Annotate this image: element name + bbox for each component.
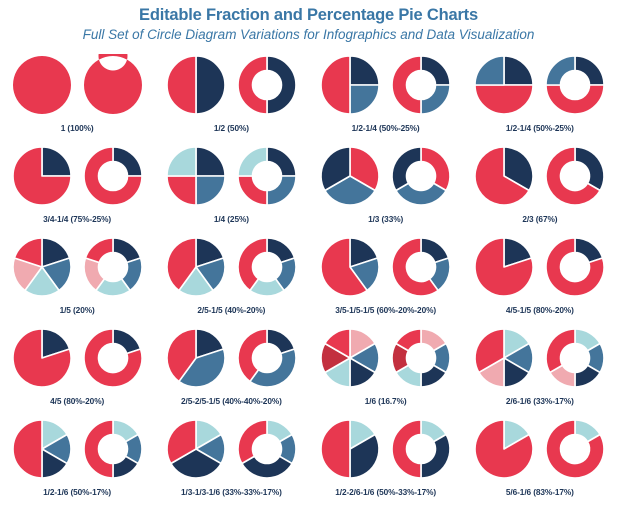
- chart-caption: 1 (100%): [61, 123, 94, 133]
- pie-slice: [321, 420, 350, 478]
- chart-cell: 3/4-1/4 (75%-25%): [0, 141, 154, 232]
- chart-caption: 4/5 (80%-20%): [50, 396, 104, 406]
- chart-pair: [473, 141, 606, 211]
- chart-caption: 3/4-1/4 (75%-25%): [43, 214, 111, 224]
- pie-chart: [473, 145, 535, 207]
- pie-slice: [475, 56, 504, 85]
- chart-cell: 1/6 (16.7%): [309, 323, 463, 414]
- pie-slice: [196, 176, 225, 205]
- chart-cell: 1/2-1/6 (50%-17%): [0, 414, 154, 505]
- pie-chart: [11, 145, 73, 207]
- pie-chart: [165, 145, 227, 207]
- pie-slice: [321, 56, 350, 114]
- chart-cell: 1/2-1/4 (50%-25%): [463, 50, 617, 141]
- pie-slice: [267, 56, 296, 114]
- pie-chart: [165, 54, 227, 116]
- chart-caption: 1/6 (16.7%): [365, 396, 407, 406]
- donut-chart: [82, 418, 144, 480]
- pie-slice: [238, 56, 267, 114]
- pie-slice: [84, 54, 142, 114]
- pie-chart: [319, 145, 381, 207]
- pie-chart: [319, 327, 381, 389]
- donut-chart: [390, 327, 452, 389]
- pie-slice: [196, 56, 225, 114]
- donut-chart: [544, 236, 606, 298]
- chart-pair: [11, 232, 144, 302]
- chart-caption: 1/4 (25%): [214, 214, 249, 224]
- pie-slice: [238, 176, 267, 205]
- pie-slice: [350, 85, 379, 114]
- donut-chart: [544, 418, 606, 480]
- pie-slice: [167, 147, 196, 176]
- pie-slice: [421, 56, 450, 85]
- pie-slice: [546, 329, 575, 372]
- chart-cell: 1/2-1/4 (50%-25%): [309, 50, 463, 141]
- chart-caption: 1/2 (50%): [214, 123, 249, 133]
- donut-chart: [236, 418, 298, 480]
- pie-slice: [167, 176, 196, 205]
- chart-caption: 5/6-1/6 (83%-17%): [506, 487, 574, 497]
- pie-slice: [238, 147, 267, 176]
- donut-chart: [390, 236, 452, 298]
- chart-pair: [11, 141, 144, 211]
- chart-pair: [11, 414, 144, 484]
- donut-chart: [544, 327, 606, 389]
- pie-slice: [113, 147, 142, 176]
- pie-slice: [167, 56, 196, 114]
- chart-cell: 5/6-1/6 (83%-17%): [463, 414, 617, 505]
- pie-slice: [392, 147, 421, 191]
- pie-chart: [11, 54, 73, 116]
- chart-cell: 1/3-1/3-1/6 (33%-33%-17%): [154, 414, 308, 505]
- chart-pair: [165, 232, 298, 302]
- donut-chart: [82, 327, 144, 389]
- donut-chart: [236, 236, 298, 298]
- pie-chart: [319, 236, 381, 298]
- pie-slice: [13, 420, 42, 478]
- chart-caption: 1/2-2/6-1/6 (50%-33%-17%): [335, 487, 436, 497]
- pie-chart: [165, 418, 227, 480]
- chart-pair: [319, 232, 452, 302]
- chart-pair: [165, 323, 298, 393]
- chart-caption: 2/6-1/6 (33%-17%): [506, 396, 574, 406]
- donut-chart: [82, 54, 144, 116]
- chart-cell: 1/3 (33%): [309, 141, 463, 232]
- pie-chart: [165, 236, 227, 298]
- chart-pair: [473, 323, 606, 393]
- pie-slice: [546, 56, 575, 85]
- pie-chart: [319, 54, 381, 116]
- chart-cell: 2/5-2/5-1/5 (40%-40%-20%): [154, 323, 308, 414]
- pie-slice: [267, 176, 296, 205]
- donut-chart: [82, 145, 144, 207]
- pie-slice: [475, 85, 533, 114]
- chart-pair: [319, 414, 452, 484]
- chart-cell: 2/3 (67%): [463, 141, 617, 232]
- chart-caption: 1/2-1/4 (50%-25%): [506, 123, 574, 133]
- pie-slice: [504, 56, 533, 85]
- chart-pair: [165, 414, 298, 484]
- donut-chart: [82, 236, 144, 298]
- chart-caption: 1/2-1/4 (50%-25%): [352, 123, 420, 133]
- chart-pair: [319, 323, 452, 393]
- chart-caption: 1/3 (33%): [368, 214, 403, 224]
- pie-chart: [473, 54, 535, 116]
- chart-cell: 1 (100%): [0, 50, 154, 141]
- pie-slice: [392, 420, 421, 478]
- pie-slice: [13, 56, 71, 114]
- donut-chart: [544, 54, 606, 116]
- chart-cell: 1/2 (50%): [154, 50, 308, 141]
- page-header: Editable Fraction and Percentage Pie Cha…: [0, 0, 617, 43]
- pie-chart: [11, 418, 73, 480]
- chart-cell: 4/5-1/5 (80%-20%): [463, 232, 617, 323]
- pie-slice: [350, 56, 379, 85]
- donut-chart: [390, 418, 452, 480]
- chart-cell: 2/6-1/6 (33%-17%): [463, 323, 617, 414]
- chart-pair: [11, 50, 144, 120]
- pie-chart: [473, 418, 535, 480]
- donut-chart: [390, 145, 452, 207]
- chart-caption: 3/5-1/5-1/5 (60%-20%-20%): [335, 305, 436, 315]
- pie-chart: [11, 236, 73, 298]
- pie-slice: [421, 85, 450, 114]
- pie-slice: [84, 420, 113, 478]
- chart-pair: [473, 414, 606, 484]
- pie-chart: [165, 327, 227, 389]
- pie-chart: [473, 327, 535, 389]
- chart-cell: 1/2-2/6-1/6 (50%-33%-17%): [309, 414, 463, 505]
- chart-cell: 4/5 (80%-20%): [0, 323, 154, 414]
- chart-pair: [473, 50, 606, 120]
- chart-cell: 2/5-1/5 (40%-20%): [154, 232, 308, 323]
- pie-slice: [267, 147, 296, 176]
- pie-chart: [11, 327, 73, 389]
- chart-pair: [165, 50, 298, 120]
- chart-caption: 1/3-1/3-1/6 (33%-33%-17%): [181, 487, 282, 497]
- pie-slice: [42, 147, 71, 176]
- chart-cell: 3/5-1/5-1/5 (60%-20%-20%): [309, 232, 463, 323]
- page-title: Editable Fraction and Percentage Pie Cha…: [0, 6, 617, 25]
- pie-chart-grid: 1 (100%)1/2 (50%)1/2-1/4 (50%-25%)1/2-1/…: [0, 50, 617, 505]
- chart-pair: [473, 232, 606, 302]
- pie-slice: [392, 56, 421, 114]
- chart-cell: 1/5 (20%): [0, 232, 154, 323]
- donut-chart: [390, 54, 452, 116]
- donut-chart: [544, 145, 606, 207]
- donut-chart: [236, 54, 298, 116]
- chart-caption: 2/5-1/5 (40%-20%): [197, 305, 265, 315]
- pie-slice: [421, 435, 450, 478]
- donut-chart: [236, 145, 298, 207]
- pie-slice: [546, 85, 604, 114]
- pie-chart: [319, 418, 381, 480]
- chart-caption: 2/5-2/5-1/5 (40%-40%-20%): [181, 396, 282, 406]
- page-subtitle: Full Set of Circle Diagram Variations fo…: [0, 27, 617, 43]
- pie-slice: [575, 56, 604, 85]
- chart-cell: 1/4 (25%): [154, 141, 308, 232]
- chart-caption: 2/3 (67%): [522, 214, 557, 224]
- pie-slice: [238, 420, 267, 463]
- chart-caption: 1/5 (20%): [60, 305, 95, 315]
- pie-chart: [473, 236, 535, 298]
- chart-pair: [165, 141, 298, 211]
- chart-pair: [319, 141, 452, 211]
- pie-slice: [196, 147, 225, 176]
- chart-pair: [319, 50, 452, 120]
- chart-caption: 1/2-1/6 (50%-17%): [43, 487, 111, 497]
- chart-pair: [11, 323, 144, 393]
- donut-chart: [236, 327, 298, 389]
- pie-slice: [85, 238, 113, 263]
- chart-caption: 4/5-1/5 (80%-20%): [506, 305, 574, 315]
